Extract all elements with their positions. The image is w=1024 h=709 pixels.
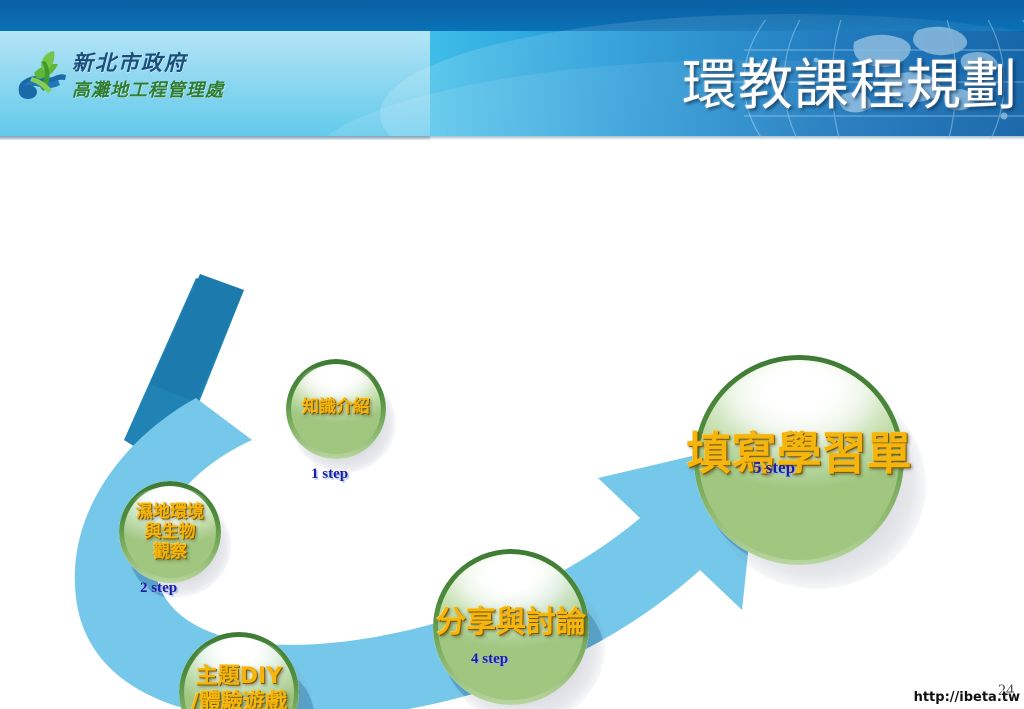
slide-canvas: 新北市政府 高灘地工程管理處 環教課程規劃 xyxy=(0,0,1024,709)
step-label-4: 4 step xyxy=(471,651,508,668)
watermark-url: http://ibeta.tw xyxy=(914,690,1020,705)
slide-header: 新北市政府 高灘地工程管理處 環教課程規劃 xyxy=(0,0,1024,140)
flow-node-label: 填寫學習單 xyxy=(669,427,929,480)
flow-node-step-1[interactable]: 知識介紹 xyxy=(286,359,386,459)
organization-logo: 新北市政府 高灘地工程管理處 xyxy=(14,47,234,111)
flow-node-label: 主題DIY /體驗遊戲 xyxy=(179,664,299,709)
flow-node-label: 分享與討論 xyxy=(411,605,611,640)
flow-node-step-4[interactable]: 分享與討論 xyxy=(433,549,589,705)
org-name-line-1: 新北市政府 xyxy=(72,47,187,77)
flow-node-step-2[interactable]: 濕地環境 與生物 觀察 xyxy=(119,481,221,583)
step-label-2: 2 step xyxy=(140,580,177,597)
org-name-line-2: 高灘地工程管理處 xyxy=(72,76,224,102)
hand-leaf-logo-icon xyxy=(14,51,72,103)
flow-node-label: 濕地環境 與生物 觀察 xyxy=(119,502,221,562)
flow-node-step-3[interactable]: 主題DIY /體驗遊戲 xyxy=(179,632,299,709)
process-flow-diagram: 知識介紹 1 step 濕地環境 與生物 觀察 2 step 主題DIY /體驗… xyxy=(0,140,1024,709)
page-title: 環教課程規劃 xyxy=(682,40,1018,120)
step-label-1: 1 step xyxy=(311,466,348,483)
flow-node-step-5[interactable]: 填寫學習單 xyxy=(694,355,904,565)
flow-node-label: 知識介紹 xyxy=(286,397,386,417)
step-label-5: 5 step xyxy=(753,458,795,478)
